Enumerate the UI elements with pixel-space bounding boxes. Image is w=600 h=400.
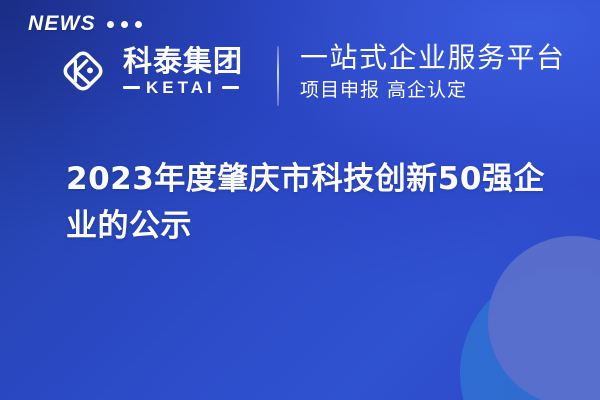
news-eyebrow: NEWS — [28, 13, 142, 34]
brand-rule-right-icon — [222, 86, 239, 89]
news-label: NEWS — [28, 13, 96, 34]
headline-title: 2023年度肇庆市科技创新50强企业的公示 — [66, 156, 576, 250]
brand-name-cn: 科泰集团 — [123, 46, 243, 76]
brand-rule-left-icon — [123, 86, 140, 89]
slogan-block: 一站式企业服务平台 项目申报 高企认定 — [300, 42, 566, 102]
decorative-circle-blue — [460, 268, 600, 400]
decorative-circle-light — [488, 236, 600, 400]
ketai-diamond-k-logo-icon — [56, 44, 110, 98]
news-dots-icon — [107, 19, 142, 28]
brand-names: 科泰集团 KETAI — [123, 46, 243, 96]
brand-lockup: 科泰集团 KETAI — [56, 44, 243, 98]
news-banner: NEWS 科泰集团 KETAI — [0, 0, 600, 400]
slogan-main: 一站式企业服务平台 — [300, 42, 566, 74]
brand-name-en: KETAI — [146, 79, 216, 96]
slogan-sub: 项目申报 高企认定 — [300, 79, 566, 102]
brand-name-en-row: KETAI — [123, 79, 243, 96]
brand-slogan-divider — [277, 46, 279, 106]
decorative-circle-dark — [500, 270, 600, 400]
